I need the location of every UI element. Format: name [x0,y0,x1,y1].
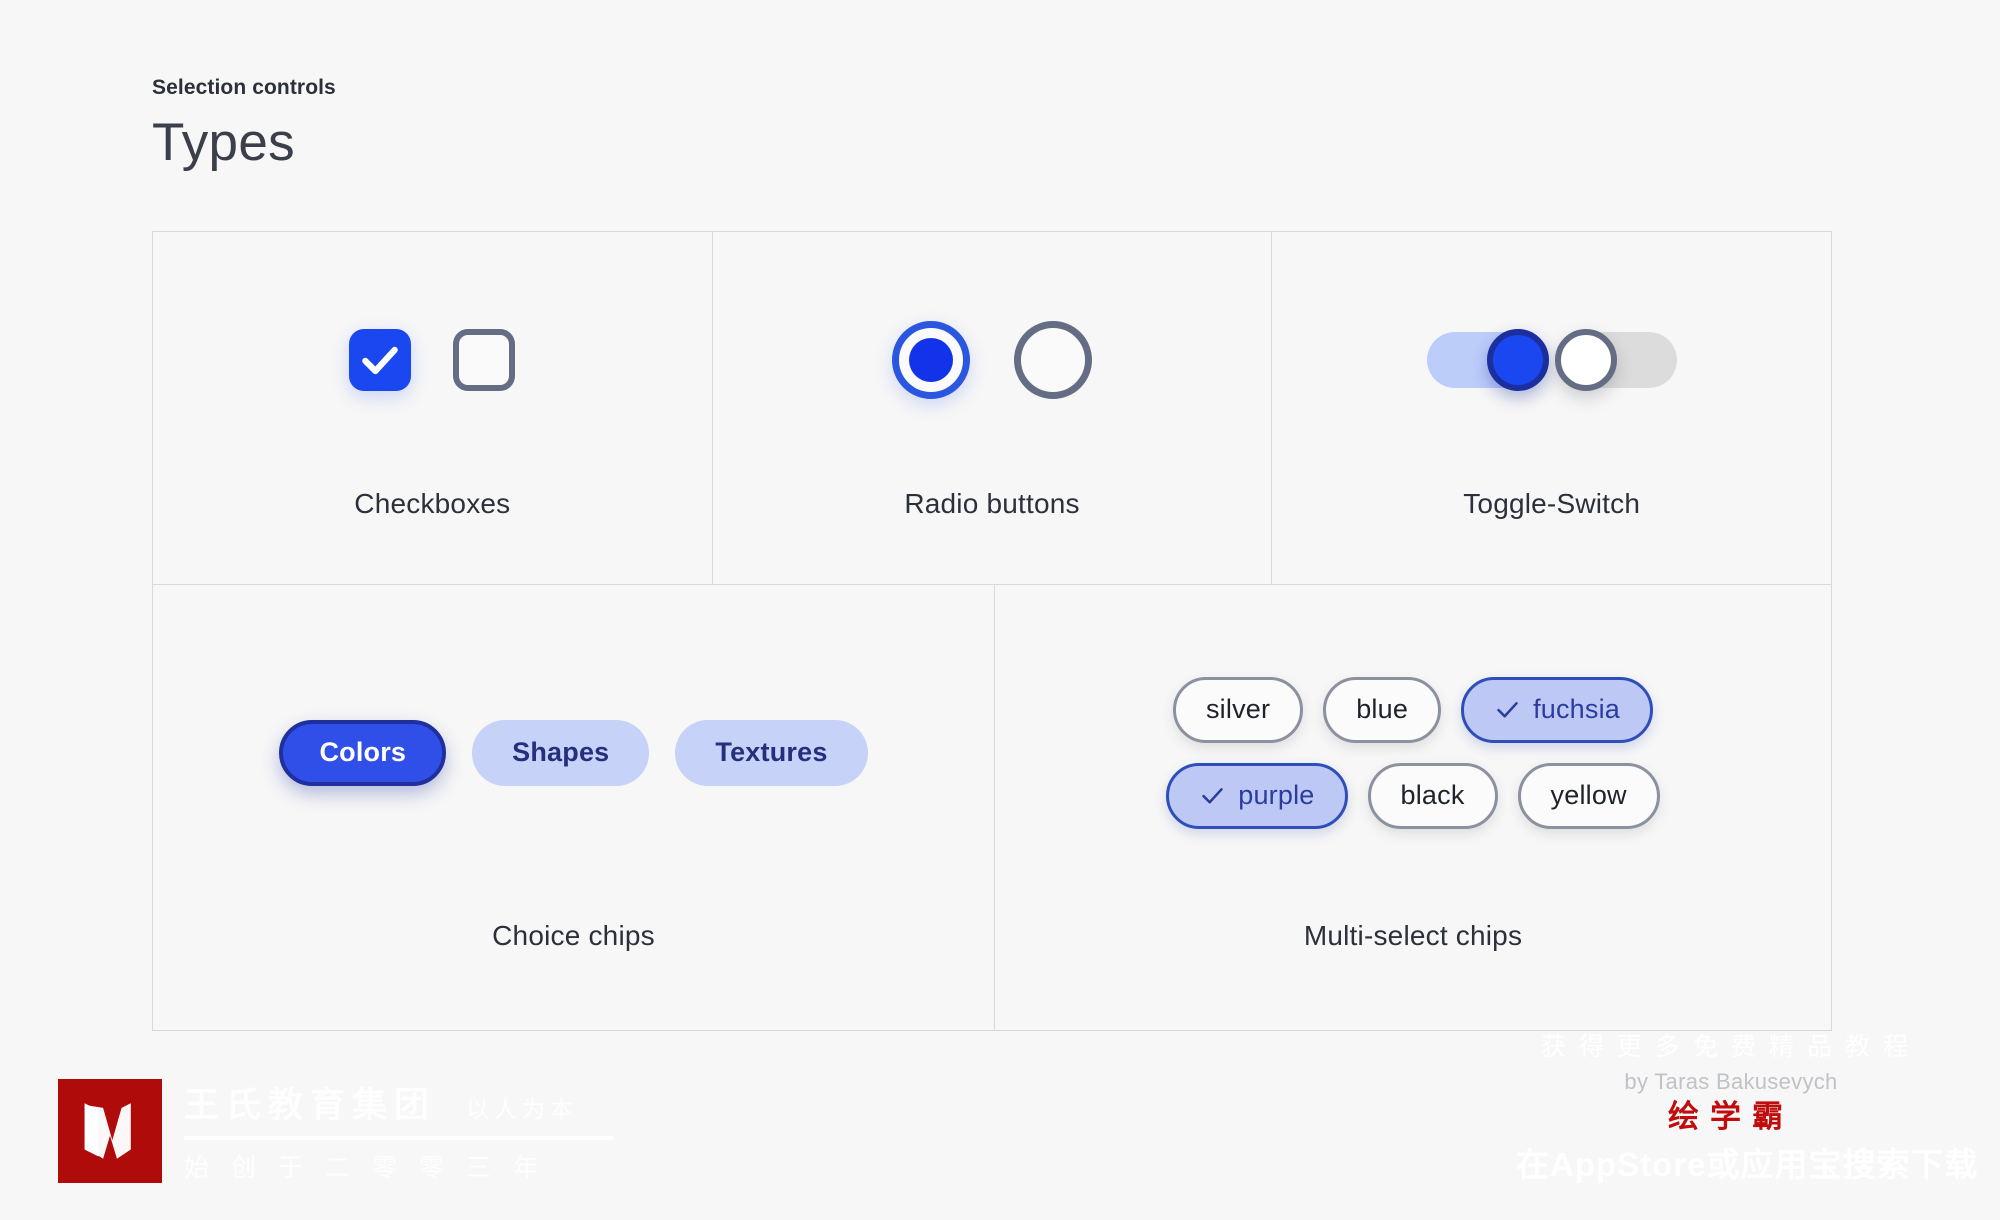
watermark-right: 获得更多免费精品教程 by Taras Bakusevych 绘学霸 在AppS… [1516,1027,1946,1186]
choice-chip-shapes[interactable]: Shapes [472,720,649,786]
page-title: Types [152,116,336,169]
panel-radio-buttons: Radio buttons [712,232,1272,584]
multi-chip-blue[interactable]: blue [1323,677,1441,743]
wangshi-logo [58,1079,162,1183]
watermark-brand: 绘学霸 [1516,1091,1946,1136]
watermark-bottom-line: 在AppStore或应用宝搜索下载 [1516,1138,1946,1186]
checkbox-checked[interactable] [349,329,411,391]
choice-chip-group: Colors Shapes Textures [279,720,867,786]
toggle-demo-area [1272,232,1831,488]
check-icon [1199,782,1226,809]
panel-checkboxes: Checkboxes [153,232,712,584]
watermark-slogan: 以人为本 [466,1090,578,1124]
panel-label-choice-chips: Choice chips [492,920,655,952]
multi-chip-label: fuchsia [1533,694,1620,725]
choice-chip-demo-area: Colors Shapes Textures [153,585,994,920]
toggle-off[interactable] [1559,332,1677,388]
watermark-org-name: 王氏教育集团 [184,1077,436,1128]
choice-chip-colors[interactable]: Colors [279,720,446,786]
checkbox-demo-area [153,232,712,488]
logo-glyph-icon [73,1094,147,1168]
watermark-left-row: 王氏教育集团 以人为本 [184,1077,614,1128]
multi-chip-purple[interactable]: purple [1166,763,1347,829]
panel-multi-select-chips: silver blue fuchsia [994,585,1831,1030]
radio-selected[interactable] [892,321,970,399]
radio-group [892,321,1092,399]
checkbox-group [349,329,515,391]
panel-choice-chips: Colors Shapes Textures Choice chips [153,585,994,1030]
watermark-divider [184,1136,614,1140]
checkbox-unchecked[interactable] [453,329,515,391]
panel-label-checkboxes: Checkboxes [354,488,510,520]
multi-chip-fuchsia[interactable]: fuchsia [1461,677,1653,743]
choice-chip-textures[interactable]: Textures [675,720,867,786]
check-icon [358,338,402,382]
toggle-knob-off[interactable] [1555,329,1617,391]
panel-label-toggle-switch: Toggle-Switch [1463,488,1640,520]
multi-chip-row: silver blue fuchsia [1173,677,1653,743]
radio-demo-area [713,232,1272,488]
breadcrumb-eyebrow: Selection controls [152,76,336,100]
multi-chip-label: yellow [1551,780,1627,811]
multi-chip-demo-area: silver blue fuchsia [995,585,1831,920]
toggle-knob-on[interactable] [1487,329,1549,391]
panel-toggle-switch: Toggle-Switch [1271,232,1831,584]
check-icon [1494,696,1521,723]
multi-chip-label: purple [1238,780,1314,811]
radio-unselected[interactable] [1014,321,1092,399]
multi-chip-yellow[interactable]: yellow [1518,763,1660,829]
toggle-group [1427,332,1677,388]
multi-chip-silver[interactable]: silver [1173,677,1303,743]
multi-chip-label: black [1401,780,1465,811]
controls-grid: Checkboxes Radio buttons [152,231,1832,1031]
grid-row-top: Checkboxes Radio buttons [153,232,1831,584]
watermark-top-line: 获得更多免费精品教程 [1516,1027,1946,1063]
grid-row-bottom: Colors Shapes Textures Choice chips silv… [153,584,1831,1030]
multi-chip-group: silver blue fuchsia [1166,677,1660,829]
multi-chip-black[interactable]: black [1368,763,1498,829]
watermark-founded: 始创于二零零三年 [184,1148,614,1184]
page-root: Selection controls Types Checkb [0,0,2000,1220]
multi-chip-row: purple black yellow [1166,763,1660,829]
multi-chip-label: silver [1206,694,1270,725]
watermark-left: 王氏教育集团 以人为本 始创于二零零三年 [58,1077,614,1184]
panel-label-multi-select-chips: Multi-select chips [1304,920,1522,952]
watermark-left-text: 王氏教育集团 以人为本 始创于二零零三年 [184,1077,614,1184]
multi-chip-label: blue [1356,694,1408,725]
page-header: Selection controls Types [152,76,336,169]
panel-label-radio-buttons: Radio buttons [904,488,1079,520]
toggle-on[interactable] [1427,332,1545,388]
